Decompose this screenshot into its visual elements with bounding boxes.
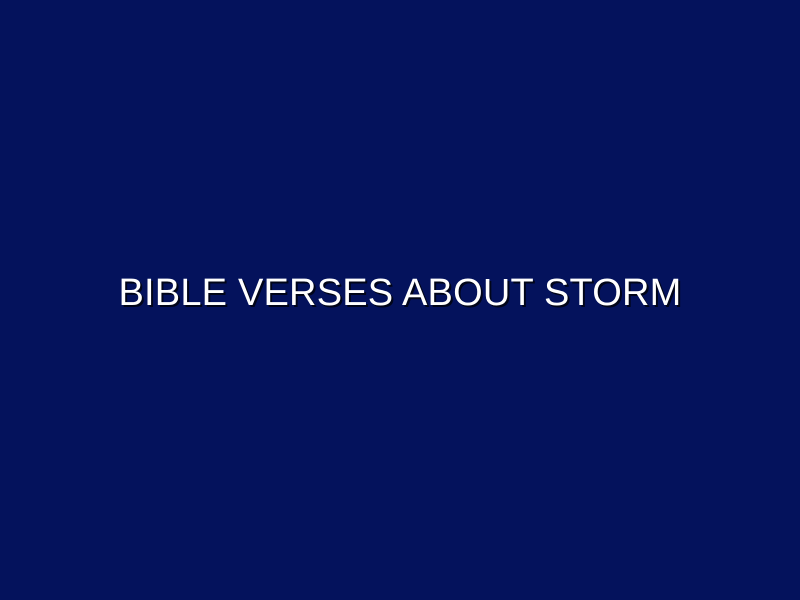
title-block: BIBLE VERSES ABOUT STORM bbox=[0, 273, 800, 315]
page-title: BIBLE VERSES ABOUT STORM bbox=[118, 273, 681, 315]
banner-canvas: BIBLE VERSES ABOUT STORM bbox=[0, 0, 800, 600]
